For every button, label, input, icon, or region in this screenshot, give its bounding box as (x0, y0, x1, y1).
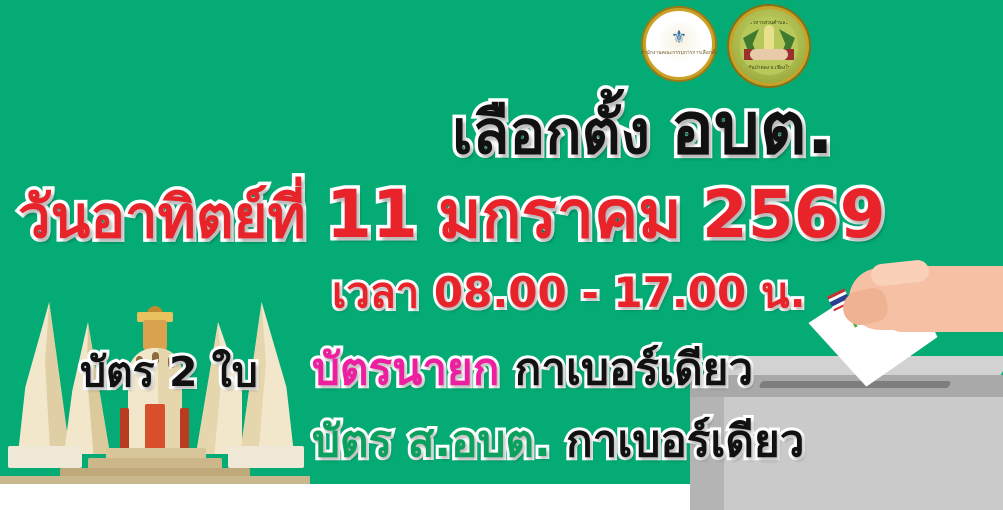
member-ballot-instruction: กาเบอร์เดียว (566, 416, 804, 467)
handshake-icon (750, 49, 788, 60)
ect-seal-inner: ⚜ สำนักงานคณะกรรมการการเลือกตั้ง (657, 22, 701, 66)
ect-seal-emblem: ⚜ สำนักงานคณะกรรมการการเลือกตั้ง (643, 8, 715, 80)
title-prefix: เลือกตั้ง (452, 98, 650, 168)
monument-base-right (228, 446, 304, 468)
sao-seal-inner: องค์การบริหารส่วนตำบลบ้านกลาง อ.สันป่าตอ… (740, 17, 798, 75)
monument-pillar-center (145, 404, 165, 454)
mayor-ballot-type: บัตรนายก (312, 344, 499, 395)
mayor-ballot-instruction: กาเบอร์เดียว (515, 344, 753, 395)
election-announcement-poster: กกต ⚜ สำนักงานคณะกรรมการการเลือกตั้ง องค… (0, 0, 1003, 510)
date-month: มกราคม (438, 176, 682, 253)
member-ballot-line: บัตร ส.อบต. กาเบอร์เดียว (312, 420, 804, 464)
page-title: เลือกตั้ง อบต. (452, 92, 834, 164)
ballot-count-label: บัตร 2 ใบ (80, 352, 258, 393)
monument-pillar-left (120, 408, 129, 452)
monument-pillar-right (180, 408, 189, 452)
sao-seal-pillar (764, 25, 774, 51)
title-subject: อบต. (671, 86, 834, 170)
sao-seal-text-bottom: อ.สันป่าตอง จ.เชียงใหม่ (744, 64, 795, 72)
monument-turret (143, 320, 167, 350)
mayor-ballot-line: บัตรนายก กาเบอร์เดียว (312, 348, 753, 392)
date-day-label: วันอาทิตย์ที่ (18, 183, 306, 251)
monument-ground (0, 476, 310, 484)
election-time-line: เวลา 08.00 - 17.00 น. (332, 272, 806, 314)
ect-seal-glyph: ⚜ (671, 28, 687, 46)
hand-casting-ballot-illustration: กกต (815, 250, 1003, 390)
sao-seal-emblem: องค์การบริหารส่วนตำบลบ้านกลาง อ.สันป่าตอ… (729, 6, 809, 86)
date-year: 2569 (702, 176, 886, 253)
ect-seal-ring-text: สำนักงานคณะกรรมการการเลือกตั้ง (641, 49, 718, 57)
member-ballot-type: บัตร ส.อบต. (312, 416, 551, 467)
election-date-line: วันอาทิตย์ที่ 11 มกราคม 2569 (18, 182, 886, 248)
monument-base-left (8, 446, 82, 468)
date-day-number: 11 (326, 176, 418, 253)
